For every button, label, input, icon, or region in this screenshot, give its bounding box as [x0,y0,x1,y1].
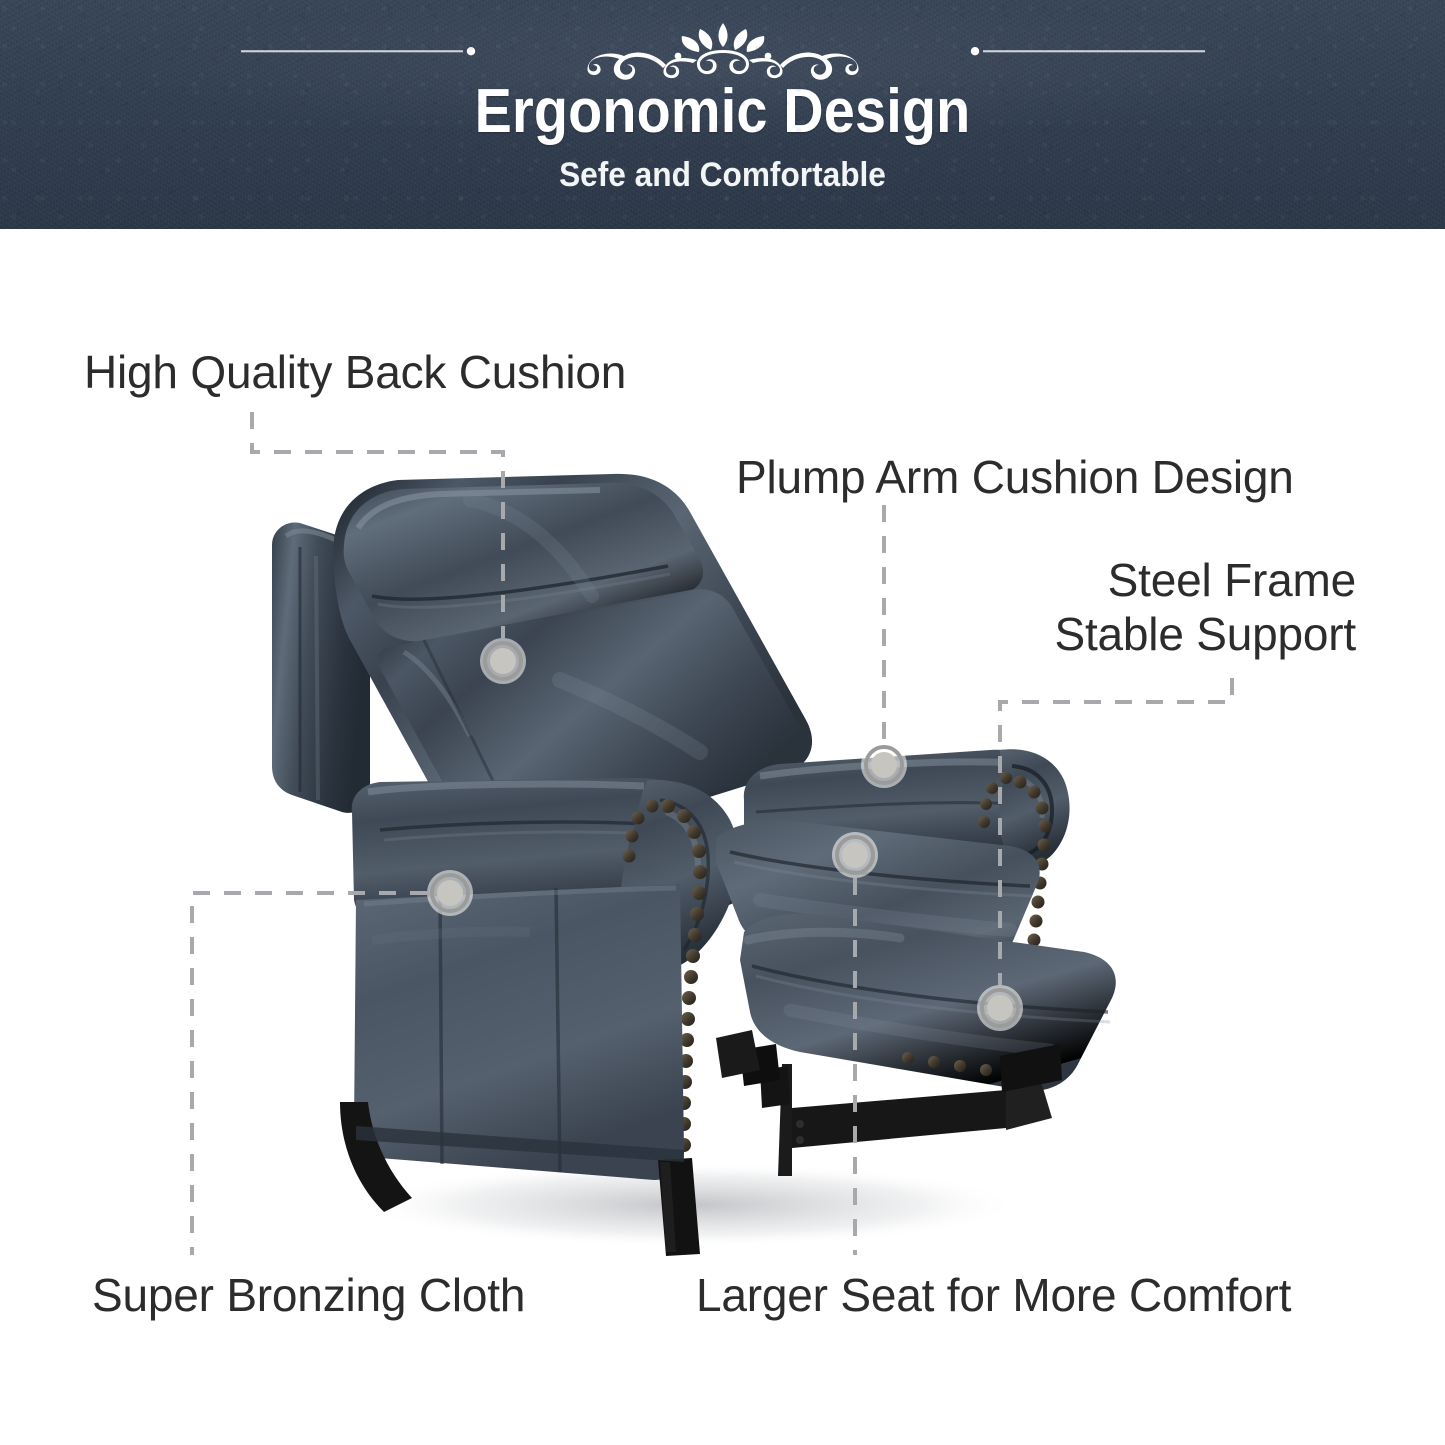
marker-arm-cushion[interactable] [861,742,907,788]
marker-bronzing-cloth[interactable] [427,870,473,916]
marker-larger-seat[interactable] [832,832,878,878]
callout-label-steel-frame: Steel Frame Stable Support [1010,553,1356,662]
callout-label-larger-seat: Larger Seat for More Comfort [696,1268,1291,1322]
marker-back-cushion[interactable] [480,638,526,684]
callout-label-back-cushion: High Quality Back Cushion [84,345,626,399]
callout-label-steel-frame-line2: Stable Support [1010,607,1356,661]
callout-label-arm-cushion: Plump Arm Cushion Design [736,450,1294,504]
callout-label-bronzing-cloth: Super Bronzing Cloth [92,1268,525,1322]
recliner-chair-illustration [0,0,1445,1445]
marker-steel-frame[interactable] [977,985,1023,1031]
callout-label-steel-frame-line1: Steel Frame [1010,553,1356,607]
infographic-page: Ergonomic Design Sefe and Comfortable [0,0,1445,1445]
